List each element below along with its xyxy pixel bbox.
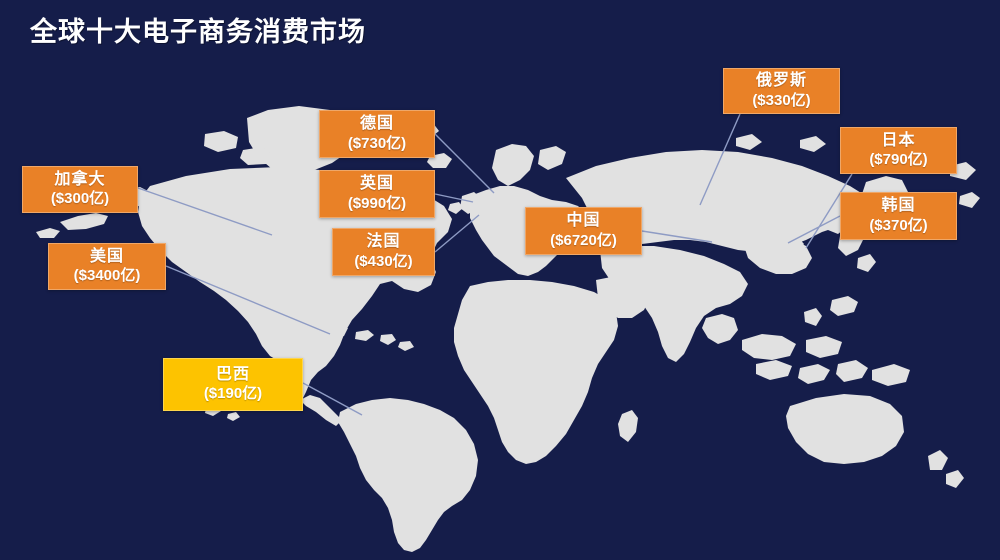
callout-country-name: 法国 <box>366 233 400 251</box>
callout-germany[interactable]: 德国($730亿) <box>319 110 435 158</box>
infographic-canvas: 全球十大电子商务消费市场 加拿大($300亿)美国($3400亿)巴西($190… <box>0 0 1000 560</box>
callout-value: ($300亿) <box>51 190 109 208</box>
callout-russia[interactable]: 俄罗斯($330亿) <box>723 68 840 114</box>
callout-value: ($6720亿) <box>550 232 617 250</box>
callout-value: ($790亿) <box>869 151 927 169</box>
callout-country-name: 加拿大 <box>54 171 105 189</box>
callout-japan[interactable]: 日本($790亿) <box>840 127 957 174</box>
callout-value: ($430亿) <box>354 253 412 271</box>
callout-canada[interactable]: 加拿大($300亿) <box>22 166 138 213</box>
callout-value: ($730亿) <box>348 135 406 153</box>
callout-value: ($330亿) <box>752 92 810 110</box>
callout-usa[interactable]: 美国($3400亿) <box>48 243 166 290</box>
callout-value: ($3400亿) <box>74 267 141 285</box>
callout-uk[interactable]: 英国($990亿) <box>319 170 435 218</box>
callout-country-name: 日本 <box>881 132 915 150</box>
callout-country-name: 韩国 <box>881 197 915 215</box>
callout-china[interactable]: 中国($6720亿) <box>525 207 642 255</box>
callout-country-name: 中国 <box>566 212 600 230</box>
callout-country-name: 德国 <box>360 115 394 133</box>
callout-brazil[interactable]: 巴西($190亿) <box>163 358 303 411</box>
callout-country-name: 俄罗斯 <box>756 72 807 90</box>
callout-country-name: 英国 <box>360 175 394 193</box>
callout-country-name: 巴西 <box>216 366 250 384</box>
callout-korea[interactable]: 韩国($370亿) <box>840 192 957 240</box>
callout-value: ($370亿) <box>869 217 927 235</box>
callout-value: ($190亿) <box>204 385 262 403</box>
callout-france[interactable]: 法国($430亿) <box>332 228 435 276</box>
callout-country-name: 美国 <box>90 248 124 266</box>
callout-value: ($990亿) <box>348 195 406 213</box>
callout-label-group: 加拿大($300亿)美国($3400亿)巴西($190亿)德国($730亿)英国… <box>0 0 1000 560</box>
